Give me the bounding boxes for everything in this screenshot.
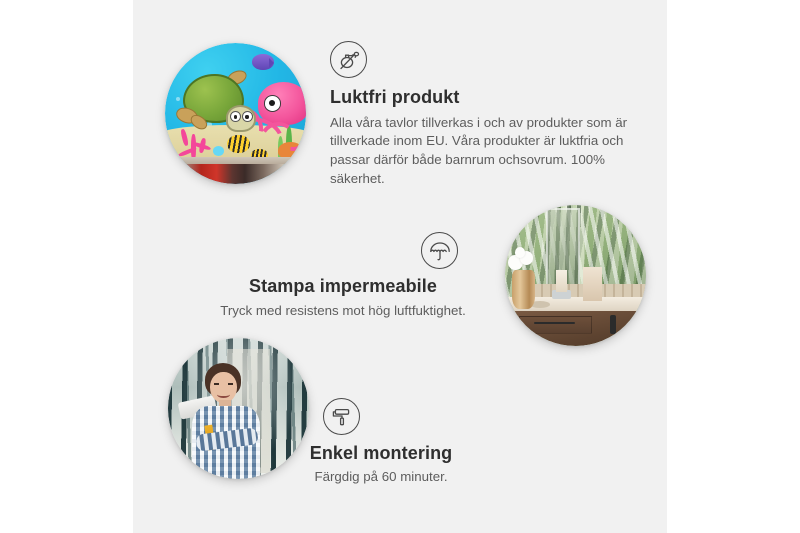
feature-waterproof-print: Stampa impermeabile Tryck med resistens … [210,232,476,320]
feature-easy-mounting: Enkel montering Färgdig på 60 minuter. [272,398,490,486]
paint-roller-icon [323,398,360,435]
vase [512,270,535,309]
room-photo-strip [165,157,306,184]
underwater-cartoon-wallpaper-photo [165,43,306,184]
turtle-head [226,105,257,132]
purple-fish-icon [252,54,273,70]
soap-dispenser [583,267,603,301]
face [210,372,237,403]
infographic-canvas: Luktfri produkt Alla våra tavlor tillver… [0,0,800,533]
striped-fish-icon [227,135,250,153]
candle [556,270,567,293]
feature-title: Stampa impermeabile [210,276,476,298]
bathroom-leaf-wallpaper-photo [505,205,646,346]
feature-title: Enkel montering [272,443,490,465]
coral-icon [173,122,215,161]
wood-vanity-cabinet [511,311,646,346]
white-flowers [506,247,540,275]
umbrella-icon [421,232,458,269]
feature-description: Tryck med resistens mot hög luftfuktighe… [210,302,476,321]
small-fish-icon [213,146,224,156]
feature-description: Färgdig på 60 minuter. [272,468,490,487]
feature-odour-free: Luktfri produkt Alla våra tavlor tillver… [330,41,630,189]
feature-description: Alla våra tavlor tillverkas i och av pro… [330,114,630,190]
no-odour-spray-bottle-icon [330,41,367,78]
feature-title: Luktfri produkt [330,87,630,109]
